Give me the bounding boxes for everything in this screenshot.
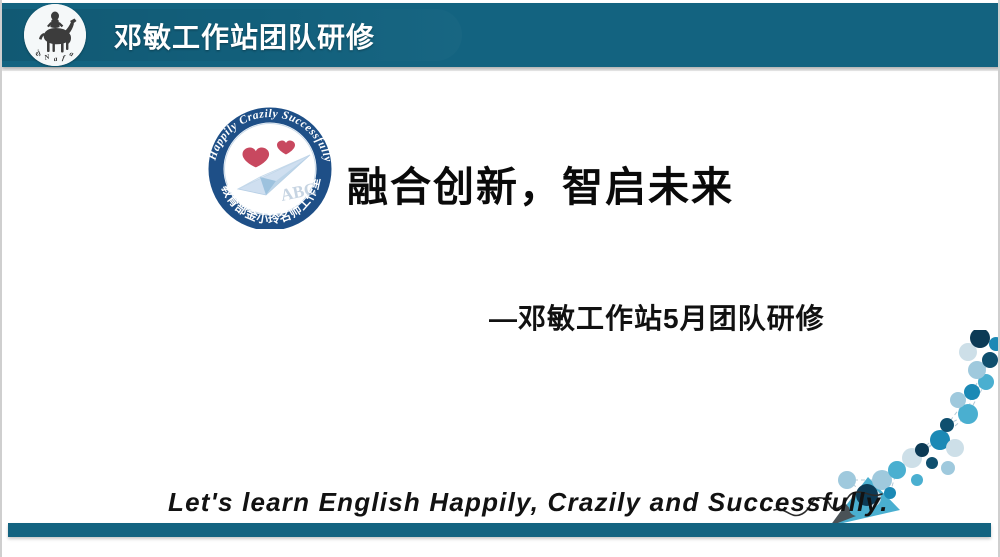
page-title: 融合创新，智启未来: [347, 153, 734, 213]
workstation-seal-icon: ej N a f a: [24, 4, 86, 66]
page-subtitle: —邓敏工作站5月团队研修: [489, 297, 825, 337]
header-title: 邓敏工作站团队研修: [114, 16, 375, 56]
slide-canvas: ej N a f a 邓敏工作站团队研修 Happily Crazily Su: [0, 0, 1000, 557]
footer-slogan: Let's learn English Happily, Crazily and…: [168, 487, 889, 518]
slide-footer-band: [8, 523, 991, 537]
studio-emblem-icon: Happily Crazily Successfully 教育部金小玲名师工作室…: [198, 103, 342, 229]
